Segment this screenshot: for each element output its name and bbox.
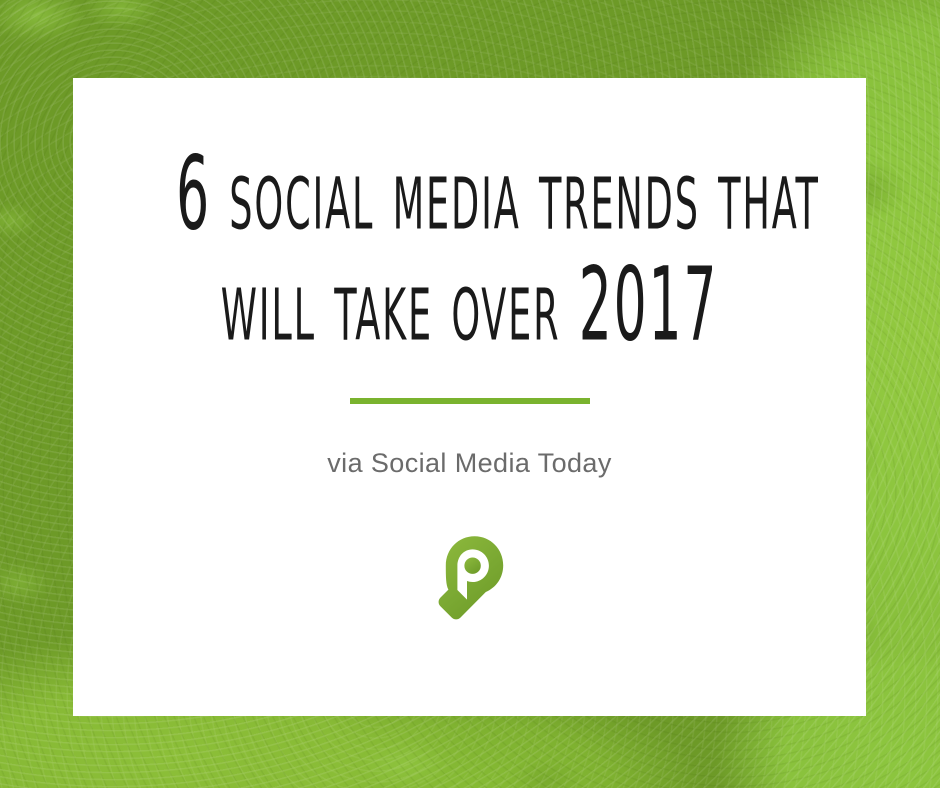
- pin-p-counter: [464, 557, 480, 573]
- location-pin-icon: [434, 533, 506, 621]
- source-attribution: via Social Media Today: [327, 448, 611, 479]
- content-card: 6 Social Media Trends that Will Take Ove…: [73, 78, 866, 716]
- title-line-2: Will Take Over 2017: [176, 234, 763, 378]
- social-media-graphic-canvas: 6 Social Media Trends that Will Take Ove…: [0, 0, 940, 788]
- brand-logo: [434, 533, 506, 621]
- page-title: 6 Social Media Trends that Will Take Ove…: [73, 140, 866, 362]
- title-divider-rule: [350, 398, 590, 404]
